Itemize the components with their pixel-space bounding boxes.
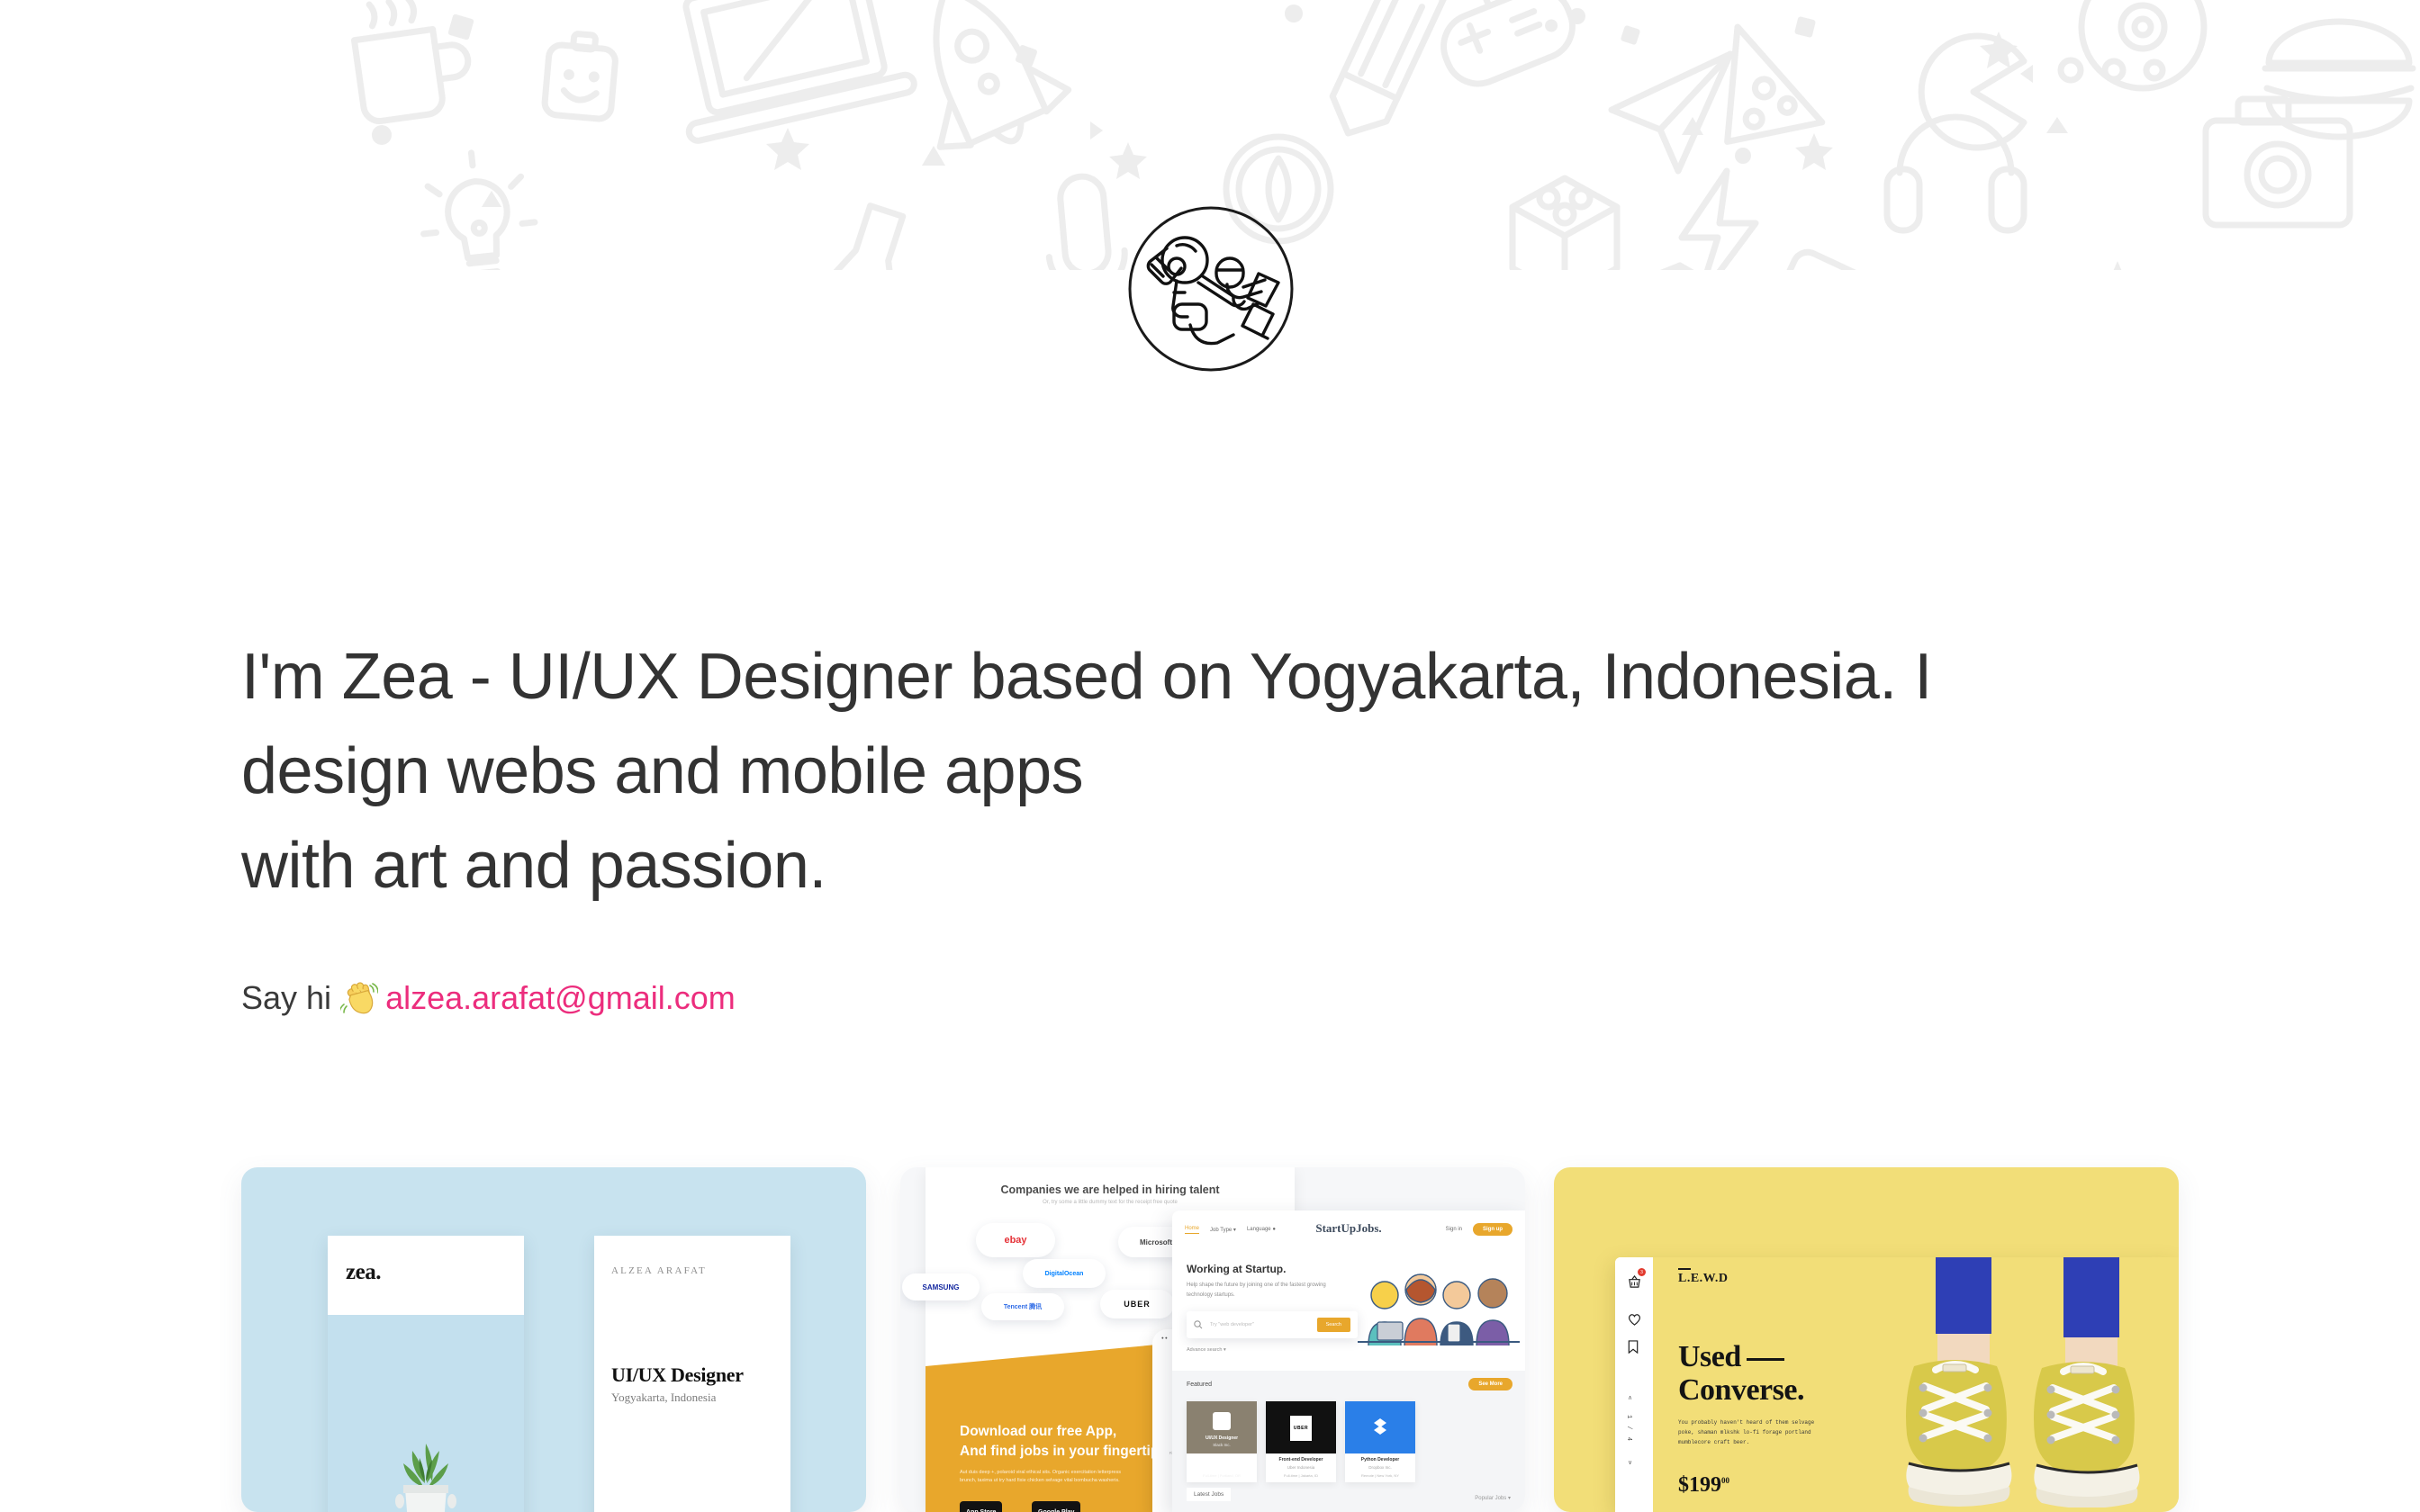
say-hi-label: Say hi [241, 978, 331, 1018]
store-browser-window: 3 ∧ 1 / 4 ∨ [1615, 1257, 2179, 1512]
job-meta: Full-time | Jakarta, ID [1266, 1473, 1336, 1478]
nav-item-home[interactable]: Home [1185, 1226, 1199, 1234]
companies-subheading: Or, try some a little dummy text for the… [926, 1200, 1295, 1205]
sign-in-link[interactable]: Sign in [1446, 1227, 1462, 1232]
flask-icon [788, 193, 940, 270]
headphones-icon [1887, 117, 2024, 230]
job-meta: Full-time | Portland, OR [1187, 1473, 1257, 1478]
job-company: Dropbox Inc. [1345, 1465, 1415, 1470]
nav-item-language[interactable]: Language ● [1247, 1227, 1276, 1232]
team-illustration [1358, 1272, 1520, 1345]
store-hero: L.E.W.D Used Converse. You probably have… [1653, 1257, 2179, 1512]
download-headline-2: And find jobs in your fingertips! [960, 1444, 1171, 1460]
popular-jobs-filter[interactable]: Popular Jobs ▾ [1475, 1495, 1511, 1501]
see-more-button[interactable]: See More [1468, 1378, 1512, 1390]
microphone-icon [1043, 174, 1131, 270]
search-button[interactable]: Search [1317, 1318, 1350, 1332]
download-headline-1: Download our free App, [960, 1424, 1116, 1440]
job-company: Slack Inc. [1187, 1443, 1257, 1447]
job-card[interactable]: Python Developer Dropbox Inc. Remote | N… [1345, 1401, 1415, 1482]
job-thumbnail: UBER [1266, 1401, 1336, 1453]
rocket-icon [882, 0, 1079, 169]
logo-pill-samsung: SAMSUNG [902, 1273, 980, 1300]
page-title: I'm Zea - UI/UX Designer based on Yogyak… [241, 630, 2132, 913]
job-thumbnail [1345, 1401, 1415, 1453]
job-search-bar[interactable]: Try "web developer" Search [1187, 1311, 1358, 1338]
slide-pagination: 1 / 4 [1625, 1415, 1632, 1443]
job-meta: Remote | New York, NY [1345, 1473, 1415, 1478]
portfolio-card-business-cards[interactable]: zea. [241, 1167, 866, 1512]
business-card-front: zea. [328, 1236, 524, 1512]
latest-jobs-label: Latest Jobs [1187, 1488, 1231, 1501]
email-link[interactable]: alzea.arafat@gmail.com [385, 978, 736, 1018]
business-card-back: ALZEA ARAFAT UI/UX Designer Yogyakarta, … [594, 1236, 790, 1512]
hero-body: Help shape the future by joining one of … [1187, 1281, 1340, 1300]
job-company: Uber Indonesia [1266, 1465, 1336, 1470]
camera-icon [2206, 99, 2350, 225]
laptop-icon [660, 0, 917, 142]
slack-logo-icon [1213, 1412, 1231, 1430]
title-dash [1747, 1358, 1784, 1361]
hero-title: Working at Startup. [1187, 1263, 1286, 1275]
lego-brick-icon [1512, 178, 1617, 270]
coffee-mug-icon [349, 0, 474, 123]
site-brand-logo: StartUpJobs. [1315, 1221, 1381, 1236]
job-title: Python Developer [1345, 1457, 1415, 1462]
burger-icon [2265, 22, 2413, 137]
pizza-slice-icon [1708, 27, 1840, 164]
portfolio-card-converse-store[interactable]: 3 ∧ 1 / 4 ∨ [1554, 1167, 2179, 1512]
portfolio-page: I'm Zea - UI/UX Designer based on Yogyak… [0, 0, 2420, 1512]
headline-line-3: with art and passion. [241, 819, 2132, 913]
headline-line-1: I'm Zea - UI/UX Designer based on Yogyak… [241, 630, 2132, 724]
pencil-icon [1321, 0, 1443, 146]
lego-minifig-head-icon [544, 31, 618, 120]
job-title: UI/UX Designer [1187, 1435, 1257, 1441]
astronaut-logo-icon[interactable] [1127, 205, 1295, 373]
business-card-name: ALZEA ARAFAT [611, 1265, 707, 1276]
logo-pill-uber: UBER [1100, 1290, 1174, 1318]
gamepad-icon [1423, 0, 1582, 94]
contact-line: Say hi alzea.arafat@gmail.com [241, 978, 736, 1018]
featured-jobs-section: Featured See More UI/UX Designer Slack I… [1172, 1371, 1525, 1512]
pacman-icon [1921, 36, 2024, 148]
pager-up-arrow-icon[interactable]: ∧ [1628, 1394, 1632, 1401]
lightbulb-icon [416, 147, 541, 270]
jobs-site-window: Home Job Type ▾ Language ● Sign in Sign … [1172, 1210, 1525, 1512]
logo-pill-tencent: Tencent 腾讯 [981, 1293, 1064, 1320]
uber-logo-icon: UBER [1290, 1416, 1312, 1441]
featured-label: Featured [1187, 1381, 1212, 1388]
job-card[interactable]: UBER Front-end Developer Uber Indonesia … [1266, 1401, 1336, 1482]
nav-item-job-type[interactable]: Job Type ▾ [1210, 1227, 1236, 1233]
logo-pill-ebay: ebay [976, 1223, 1055, 1257]
companies-heading: Companies we are helped in hiring talent [926, 1183, 1295, 1196]
sign-up-button[interactable]: Sign up [1473, 1223, 1512, 1236]
job-title: Front-end Developer [1266, 1457, 1336, 1462]
paper-plane-icon [1612, 54, 1730, 171]
pager-down-arrow-icon[interactable]: ∨ [1628, 1459, 1632, 1466]
business-card-location: Yogyakarta, Indonesia [611, 1390, 716, 1405]
portfolio-card-row: zea. [0, 1167, 2420, 1512]
job-card[interactable]: UI/UX Designer Slack Inc. Full-time | Po… [1187, 1401, 1257, 1482]
advance-search-toggle[interactable]: Advance search ▾ [1187, 1347, 1226, 1353]
logo-pill-digitalocean: DigitalOcean [1023, 1259, 1106, 1288]
lightning-bolt-icon [1682, 171, 1756, 270]
basket-icon[interactable] [1628, 1275, 1641, 1293]
headline-line-2: design webs and mobile apps [241, 724, 2132, 819]
smartphone-icon [1736, 247, 1879, 270]
store-side-rail: 3 ∧ 1 / 4 ∨ [1615, 1257, 1653, 1512]
product-title: Used Converse. [1678, 1340, 1831, 1407]
plant-photo [373, 1427, 479, 1512]
google-play-badge[interactable]: Google Play [1032, 1501, 1080, 1512]
search-icon [1194, 1320, 1203, 1329]
waving-hand-icon [340, 979, 378, 1017]
converse-shoes-photo [1873, 1257, 2179, 1512]
download-body-text: Aut duis deep +, polaroid viral ethical … [960, 1469, 1131, 1485]
app-store-badge[interactable]: App Store [960, 1501, 1002, 1512]
product-description: You probably haven't heard of them selva… [1678, 1417, 1822, 1447]
diamond-icon [1603, 252, 1747, 270]
business-card-role: UI/UX Designer [611, 1363, 744, 1387]
product-price: $19900 [1678, 1473, 1729, 1498]
heart-icon[interactable] [1628, 1313, 1641, 1330]
search-placeholder: Try "web developer" [1210, 1322, 1317, 1327]
dropbox-logo-icon [1369, 1416, 1391, 1437]
store-brand-logo: L.E.W.D [1678, 1272, 1729, 1286]
zea-logo-text: zea. [346, 1260, 381, 1285]
cart-badge: 3 [1638, 1268, 1646, 1276]
cd-disc-icon [2081, 0, 2204, 88]
portfolio-card-startup-jobs[interactable]: Companies we are helped in hiring talent… [900, 1167, 1525, 1512]
bookmark-icon[interactable] [1628, 1340, 1639, 1358]
